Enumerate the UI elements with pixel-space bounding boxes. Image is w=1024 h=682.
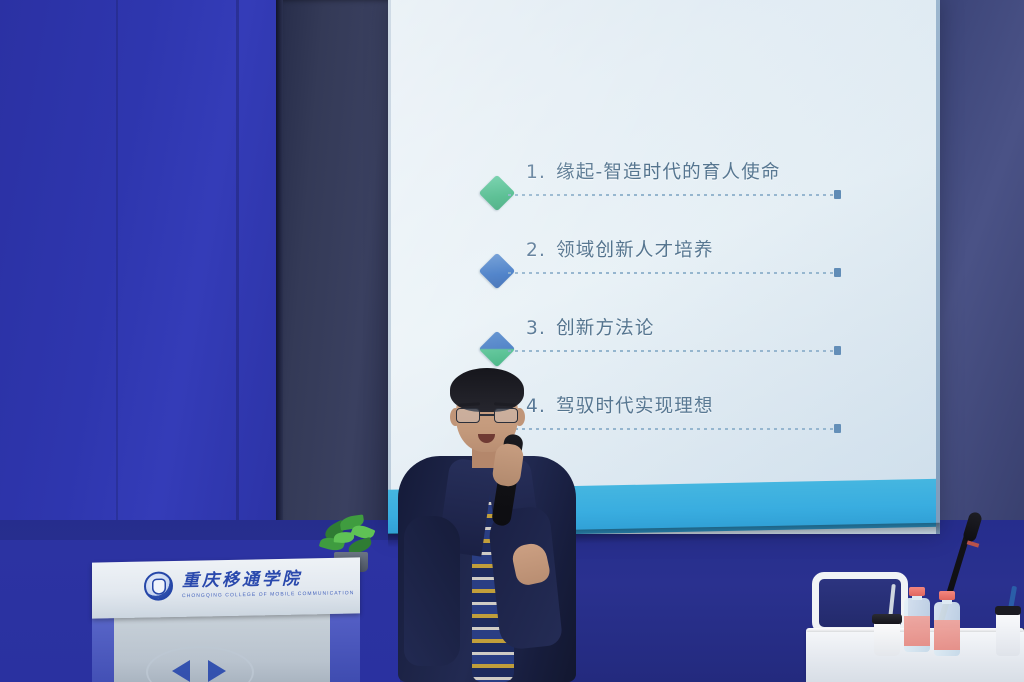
- agenda-rule-end-marker: [834, 346, 841, 355]
- agenda-item-number: 3.: [526, 318, 546, 339]
- agenda-item-label: 3.创新方法论: [526, 314, 655, 340]
- diamond-bullet-icon: [479, 331, 516, 368]
- presenter: [398, 368, 576, 682]
- plant-leaf: [334, 531, 355, 543]
- podium-branding: 重庆移通学院 CHONGQING COLLEGE OF MOBILE COMMU…: [144, 568, 354, 601]
- podium-left-side: [92, 612, 116, 682]
- agenda-item-label: 1.缘起-智造时代的育人使命: [526, 158, 781, 184]
- agenda-dotted-rule: [508, 194, 838, 196]
- glasses-lens-right: [494, 408, 518, 423]
- cup-body: [996, 612, 1020, 656]
- agenda-item-text: 驾驭时代实现理想: [556, 396, 714, 417]
- podium: 重庆移通学院 CHONGQING COLLEGE OF MOBILE COMMU…: [92, 560, 360, 682]
- agenda-item-number: 1.: [526, 162, 546, 183]
- podium-name-block: 重庆移通学院 CHONGQING COLLEGE OF MOBILE COMMU…: [182, 570, 354, 599]
- agenda-dotted-rule: [508, 272, 838, 274]
- second-cup: [996, 600, 1020, 656]
- agenda-rule-end-marker: [834, 424, 841, 433]
- water-bottle: [904, 588, 930, 652]
- screen-left-edge: [388, 0, 391, 534]
- podium-name-cn: 重庆移通学院: [182, 570, 354, 590]
- cup-body: [874, 620, 900, 656]
- agenda-item-number: 2.: [526, 240, 546, 261]
- agenda-item: 2.领域创新人才培养: [484, 236, 940, 314]
- agenda-item-label: 2.领域创新人才培养: [526, 236, 714, 262]
- podium-name-en: CHONGQING COLLEGE OF MOBILE COMMUNICATIO…: [182, 591, 354, 599]
- agenda-rule-end-marker: [834, 190, 841, 199]
- cup-lid: [872, 614, 902, 624]
- screen-right-edge: [936, 0, 940, 534]
- podium-right-side: [328, 612, 360, 682]
- agenda-item-text: 缘起-智造时代的育人使命: [556, 162, 781, 183]
- bottle-cap: [909, 587, 925, 596]
- university-seal-icon: [144, 571, 173, 601]
- bottle-cap: [939, 591, 955, 600]
- coffee-cup-with-straw: [872, 612, 902, 656]
- diamond-bullet-icon: [479, 175, 516, 212]
- emblem-chevron-right-icon: [208, 660, 226, 682]
- agenda-item-text: 创新方法论: [556, 318, 655, 339]
- emblem-arc: [146, 646, 254, 682]
- water-bottle: [934, 592, 960, 656]
- bottle-label: [934, 620, 960, 650]
- microphone-indicator-ring: [967, 540, 980, 547]
- microphone-capsule: [962, 511, 983, 543]
- agenda-item-text: 领域创新人才培养: [556, 240, 714, 261]
- lecture-hall-scene: 1.缘起-智造时代的育人使命 2.领域创新人才培养 3.创新方法论: [0, 0, 1024, 682]
- emblem-chevron-left-icon: [172, 660, 190, 682]
- glasses-bridge: [480, 414, 494, 416]
- cup-lid: [995, 606, 1021, 615]
- dark-wall-panel: [276, 0, 390, 560]
- agenda-rule-end-marker: [834, 268, 841, 277]
- podium-chevron-emblem: [146, 646, 254, 682]
- glasses-lens-left: [456, 408, 480, 423]
- agenda-dotted-rule: [508, 350, 838, 352]
- right-wall-panel: [938, 0, 1024, 520]
- bottle-label: [904, 616, 930, 646]
- agenda-item: 1.缘起-智造时代的育人使命: [484, 158, 940, 236]
- presenter-arm-left: [404, 516, 460, 666]
- eyeglasses-icon: [456, 408, 518, 423]
- diamond-bullet-icon: [479, 253, 516, 290]
- dark-panel-edge: [276, 0, 283, 560]
